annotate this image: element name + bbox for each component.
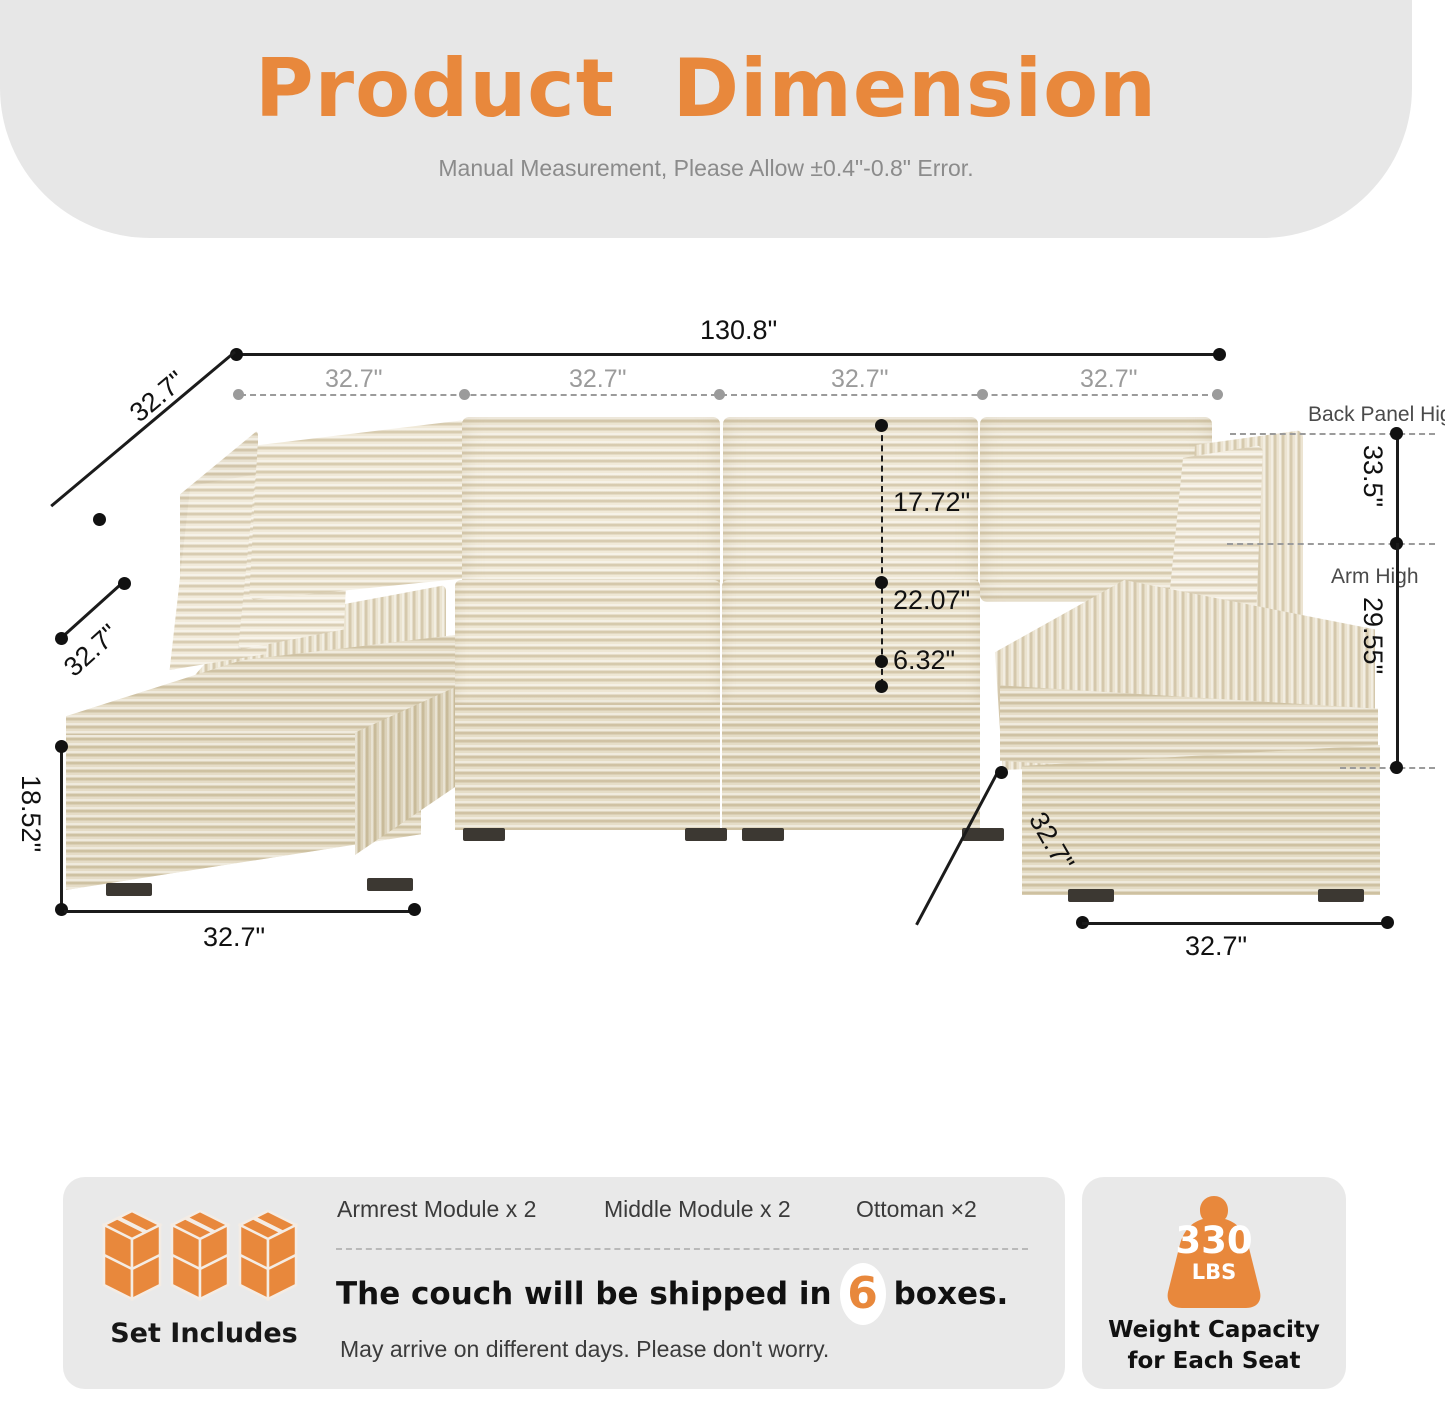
sofa-foot [1068,889,1114,902]
segment-tick-dot [714,389,725,400]
back-panel-height-label: 33.5" [1357,445,1388,507]
back-panel-guide-line [1230,433,1435,435]
module-item-ottoman: Ottoman ×2 [856,1196,977,1223]
ship-suffix-text: boxes. [894,1276,1009,1312]
floor-guide-line [1340,767,1435,769]
segment-tick-dot [233,389,244,400]
bottom-right-width-label: 32.7" [1185,931,1247,962]
right-chaise-base [1022,745,1380,895]
dim-endpoint-dot [995,766,1008,779]
dim-endpoint-dot [118,577,131,590]
sofa-foot [1318,889,1364,902]
sofa-foot [685,828,727,841]
center-dash-line [881,425,883,685]
sofa-foot [106,883,152,896]
backrest-height-label: 17.72" [893,487,970,518]
segment-tick-dot [977,389,988,400]
weight-icon: 330 LBS [1162,1192,1266,1312]
total-width-label: 130.8" [700,315,777,346]
seat-depth-label: 22.07" [893,585,970,616]
page-title: Product Dimension [0,42,1412,135]
left-height-label: 18.52" [15,775,46,852]
weight-caption-line2: for Each Seat [1082,1348,1346,1374]
backrest-cushion-2 [462,417,720,602]
shipping-note: May arrive on different days. Please don… [340,1336,829,1363]
weight-unit: LBS [1162,1262,1266,1283]
bottom-left-width-line [64,910,418,913]
weight-caption-line1: Weight Capacity [1082,1317,1346,1343]
middle-module-base-1 [455,705,720,830]
module-item-armrest: Armrest Module x 2 [337,1196,536,1223]
dim-endpoint-dot [875,680,888,693]
seat-thickness-label: 6.32" [893,645,955,676]
sofa-foot [742,828,784,841]
boxes-icon [100,1205,305,1305]
dim-endpoint-dot [408,903,421,916]
set-includes-label: Set Includes [63,1318,345,1349]
product-dimension-diagram: 130.8" 32.7" 32.7" 32.7" 32.7" 32.7" 32.… [0,255,1445,1145]
weight-value: 330 [1162,1222,1266,1259]
segment-tick-dot [459,389,470,400]
arm-height-line [1396,543,1399,767]
segment-tick-dot [1212,389,1223,400]
ship-count-badge: 6 [840,1263,886,1325]
module-divider [336,1248,1028,1250]
total-width-line [236,353,1222,356]
left-height-line [60,745,63,908]
arm-height-label: 29.55" [1357,597,1388,674]
dim-endpoint-dot [1381,916,1394,929]
seat-cushion-1 [455,580,720,710]
dim-endpoint-dot [55,632,68,645]
dim-endpoint-dot [875,419,888,432]
segment-dash-line [240,394,1218,396]
backrest-cushion-1 [249,420,465,600]
segment-label-3: 32.7" [831,365,889,394]
middle-module-base-2 [722,705,980,830]
dim-endpoint-dot [875,655,888,668]
dim-endpoint-dot [1390,427,1403,440]
bottom-left-width-label: 32.7" [203,922,265,953]
arm-high-guide-line [1227,543,1435,545]
arm-high-label: Arm High [1331,565,1419,589]
dim-endpoint-dot [875,576,888,589]
segment-label-4: 32.7" [1080,365,1138,394]
ship-prefix-text: The couch will be shipped in [336,1276,832,1312]
sofa-illustration [0,255,1445,955]
sofa-foot [367,878,413,891]
bottom-right-width-line [1082,922,1387,925]
shipping-statement: The couch will be shipped in 6 boxes. [336,1269,1036,1319]
module-item-middle: Middle Module x 2 [604,1196,791,1223]
back-panel-height-line [1396,433,1399,543]
page-subtitle: Manual Measurement, Please Allow ±0.4"-0… [0,155,1412,182]
dim-endpoint-dot [1390,761,1403,774]
dim-endpoint-dot [1213,348,1226,361]
dim-endpoint-dot [55,740,68,753]
dim-endpoint-dot [93,513,106,526]
back-panel-high-label: Back Panel High [1308,403,1445,427]
segment-label-2: 32.7" [569,365,627,394]
segment-label-1: 32.7" [325,365,383,394]
sofa-foot [463,828,505,841]
